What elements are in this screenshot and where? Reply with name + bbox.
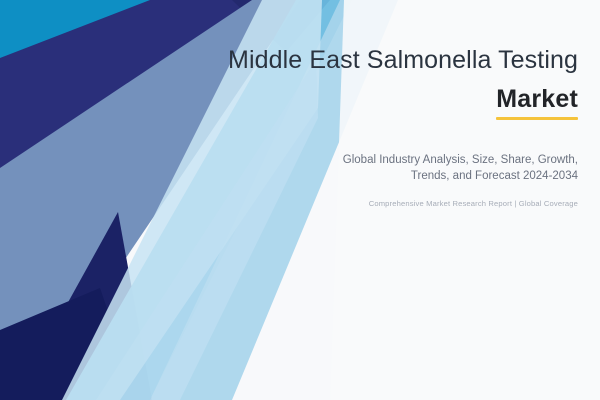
report-cover: Middle East Salmonella Testing Market Gl… [0, 0, 600, 400]
abstract-geometric-artwork [0, 0, 600, 400]
white-fade-right [330, 0, 600, 400]
